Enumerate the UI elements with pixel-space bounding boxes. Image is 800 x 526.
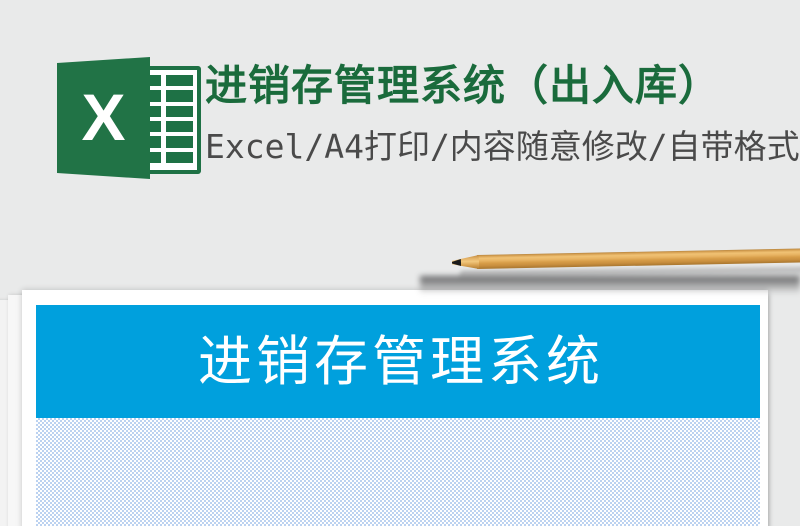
- spreadsheet-grid-area: 入库单 入库总表: [36, 418, 760, 526]
- page-root: X 进销存管理系统（出入库） Excel/A4打印/内容随意修改/自带格式 进销…: [0, 0, 800, 526]
- document-top-shadow: [420, 276, 800, 294]
- spreadsheet-banner-title: 进销存管理系统: [192, 335, 604, 389]
- spreadsheet-content: 进销存管理系统 入库单 入库总表: [36, 305, 760, 526]
- spreadsheet-banner: 进销存管理系统: [36, 305, 760, 418]
- document-preview: 进销存管理系统 入库单 入库总表: [0, 0, 800, 526]
